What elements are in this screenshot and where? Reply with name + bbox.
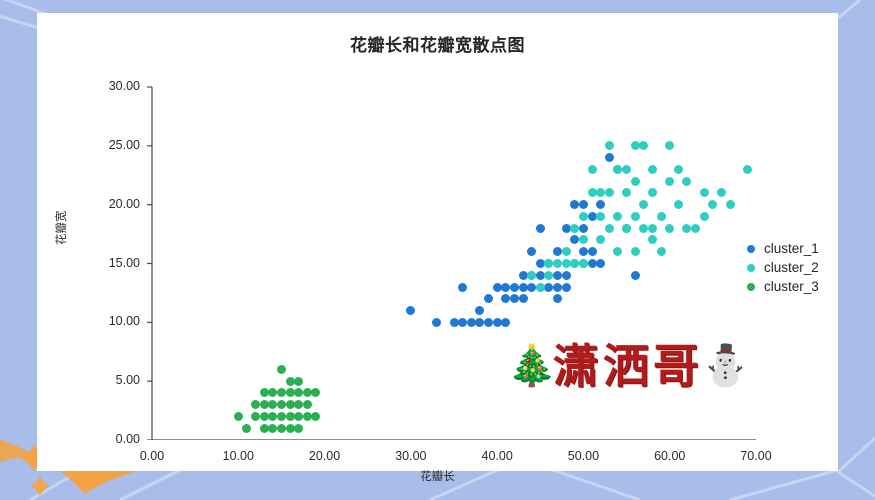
scatter-point: [674, 200, 683, 209]
chart-card: 花瓣长和花瓣宽散点图 花瓣宽 花瓣长 0.0010.0020.0030.0040…: [37, 13, 838, 471]
scatter-point: [562, 224, 571, 233]
scatter-point: [588, 247, 597, 256]
scatter-point: [234, 412, 243, 421]
scatter-point: [536, 224, 545, 233]
scatter-point: [458, 283, 467, 292]
scatter-point: [665, 177, 674, 186]
scatter-point: [519, 271, 528, 280]
y-tick-label: 15.00: [80, 256, 140, 270]
scatter-point: [674, 165, 683, 174]
scatter-point: [631, 141, 640, 150]
x-tick-label: 10.00: [208, 449, 268, 463]
legend-label-cluster-1: cluster_1: [764, 241, 819, 256]
scatter-point: [579, 259, 588, 268]
christmas-tree-icon: 🎄: [507, 346, 557, 386]
legend-label-cluster-3: cluster_3: [764, 279, 819, 294]
scatter-point: [536, 283, 545, 292]
scatter-point: [527, 271, 536, 280]
scatter-point: [657, 212, 666, 221]
scatter-point: [579, 224, 588, 233]
scatter-point: [605, 153, 614, 162]
scatter-point: [553, 259, 562, 268]
legend-item-cluster-3[interactable]: cluster_3: [747, 277, 819, 296]
legend[interactable]: cluster_1 cluster_2 cluster_3: [747, 239, 819, 296]
y-tick-label: 30.00: [80, 79, 140, 93]
legend-marker-cluster-3: [747, 283, 755, 291]
scatter-point: [631, 177, 640, 186]
scatter-point: [260, 412, 269, 421]
scatter-point: [260, 400, 269, 409]
x-tick-label: 30.00: [381, 449, 441, 463]
scatter-point: [527, 283, 536, 292]
scatter-point: [294, 424, 303, 433]
watermark: 🎄 潇洒哥 ⛄: [507, 329, 807, 403]
scatter-point: [691, 224, 700, 233]
scatter-point: [570, 224, 579, 233]
scatter-point: [562, 259, 571, 268]
x-tick-label: 50.00: [553, 449, 613, 463]
scatter-point: [579, 212, 588, 221]
scatter-point: [553, 271, 562, 280]
scatter-point: [588, 165, 597, 174]
scatter-point: [639, 224, 648, 233]
snowman-icon: ⛄: [701, 346, 751, 386]
scatter-point: [277, 424, 286, 433]
scatter-point: [700, 212, 709, 221]
chart-title: 花瓣长和花瓣宽散点图: [37, 31, 838, 56]
scatter-point: [260, 424, 269, 433]
scatter-point: [726, 200, 735, 209]
y-tick-label: 5.00: [80, 373, 140, 387]
x-tick-label: 70.00: [726, 449, 786, 463]
scatter-point: [562, 247, 571, 256]
scatter-point: [484, 318, 493, 327]
scatter-point: [510, 283, 519, 292]
legend-marker-cluster-2: [747, 264, 755, 272]
scatter-point: [648, 165, 657, 174]
scatter-point: [631, 247, 640, 256]
scatter-point: [268, 424, 277, 433]
scatter-point: [432, 318, 441, 327]
scatter-point: [277, 365, 286, 374]
scatter-point: [458, 318, 467, 327]
x-tick-label: 40.00: [467, 449, 527, 463]
scatter-point: [501, 283, 510, 292]
legend-label-cluster-2: cluster_2: [764, 260, 819, 275]
scatter-point: [519, 294, 528, 303]
y-tick-label: 20.00: [80, 197, 140, 211]
scatter-point: [622, 224, 631, 233]
scatter-point: [277, 412, 286, 421]
y-axis-label: 花瓣宽: [53, 211, 69, 246]
scatter-point: [579, 200, 588, 209]
scatter-point: [743, 165, 752, 174]
x-tick-label: 0.00: [122, 449, 182, 463]
scatter-point: [657, 247, 666, 256]
scatter-point: [251, 412, 260, 421]
x-tick-label: 20.00: [295, 449, 355, 463]
scatter-point: [553, 283, 562, 292]
scatter-point: [631, 271, 640, 280]
y-tick-label: 25.00: [80, 138, 140, 152]
scatter-point: [294, 377, 303, 386]
scatter-point: [648, 224, 657, 233]
legend-marker-cluster-1: [747, 245, 755, 253]
legend-item-cluster-1[interactable]: cluster_1: [747, 239, 819, 258]
scatter-point: [519, 283, 528, 292]
scatter-point: [622, 165, 631, 174]
scatter-point: [562, 283, 571, 292]
scatter-point: [665, 224, 674, 233]
scatter-point: [303, 400, 312, 409]
watermark-text: 潇洒哥: [553, 343, 703, 389]
scatter-point: [562, 271, 571, 280]
x-tick-label: 60.00: [640, 449, 700, 463]
legend-item-cluster-2[interactable]: cluster_2: [747, 258, 819, 277]
scatter-point: [631, 212, 640, 221]
y-tick-label: 0.00: [80, 432, 140, 446]
y-tick-label: 10.00: [80, 314, 140, 328]
x-axis-label: 花瓣长: [37, 468, 838, 484]
scatter-point: [605, 224, 614, 233]
